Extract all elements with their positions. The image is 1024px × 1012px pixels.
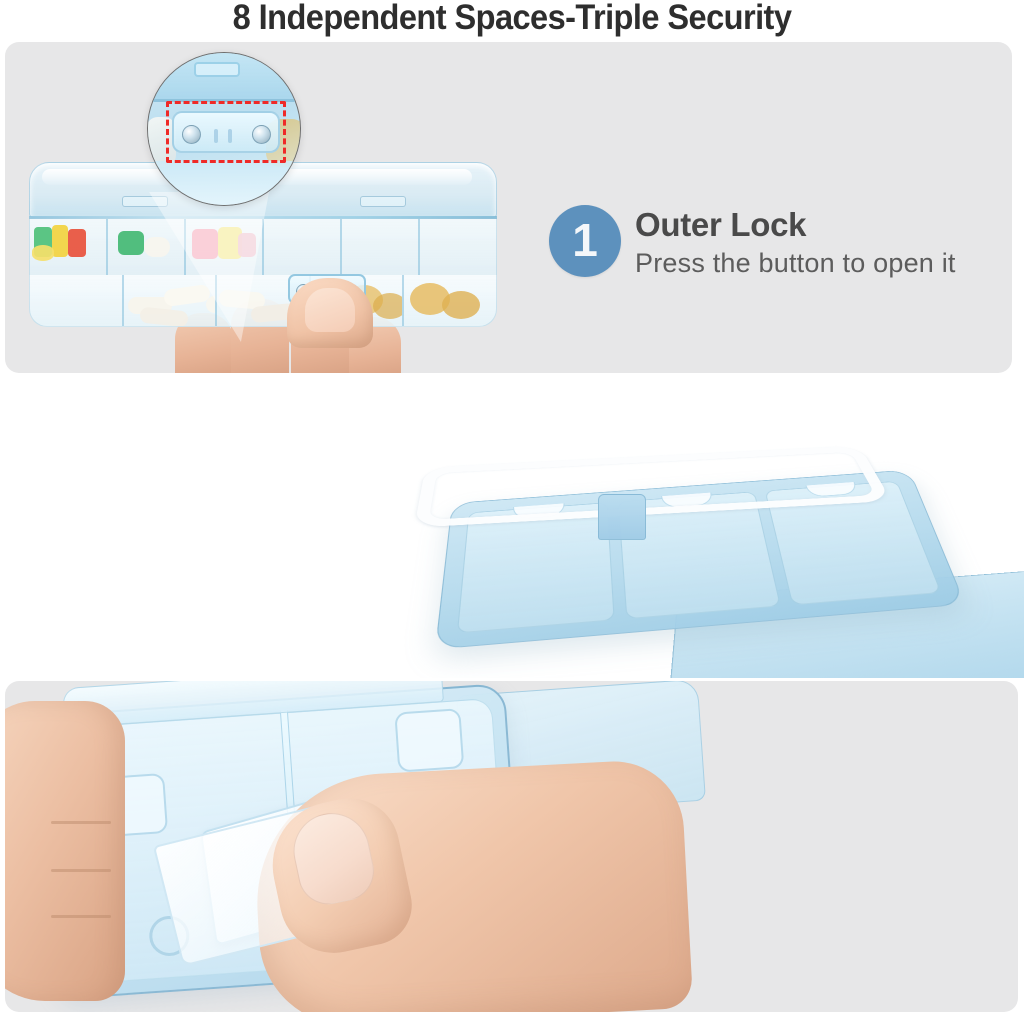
compartment-pad: [394, 708, 464, 772]
box-body-zoom: [147, 161, 301, 206]
step-1-heading: Outer Lock: [635, 206, 956, 244]
compartment: [30, 219, 108, 275]
red-dashed-highlight: [166, 101, 286, 163]
magnifier-content: [148, 53, 300, 205]
hand-crease: [51, 821, 111, 824]
hands-opening-photo: [5, 681, 1018, 1012]
page-title: 8 Independent Spaces-Triple Security: [36, 0, 988, 38]
open-lid-photo: [0, 376, 1024, 678]
lid-hinge-tab[interactable]: [598, 494, 646, 540]
hand-crease: [51, 869, 111, 872]
step-number-badge-1: 1: [549, 205, 621, 277]
thumbnail: [305, 288, 355, 332]
compartment-gel-capsules: [404, 275, 496, 326]
compartment: [342, 219, 420, 275]
step-1-subtitle: Press the button to open it: [635, 246, 956, 280]
compartment: [30, 275, 124, 326]
product-infographic: 8 Independent Spaces-Triple Security: [0, 0, 1024, 1012]
step-1: 1 Outer Lock Press the button to open it: [549, 205, 956, 280]
left-hand: [5, 701, 125, 1001]
lid-tab-zoom: [194, 62, 240, 77]
magnifier-callout: [147, 52, 301, 206]
feature-panel-silicone-loop: 2 Silicone Loop Keeps Moisture Off: [0, 376, 1024, 678]
compartment: [420, 219, 496, 275]
feature-panel-silicone-sheet: 3 Silicone Sheet For Easy Opening: [5, 681, 1018, 1012]
feature-panel-outer-lock: 1 Outer Lock Press the button to open it: [5, 42, 1012, 373]
lid-tab: [360, 196, 406, 207]
lid-edge-zoom: [147, 53, 301, 102]
hand-crease: [51, 915, 111, 918]
step-1-text: Outer Lock Press the button to open it: [635, 205, 956, 280]
